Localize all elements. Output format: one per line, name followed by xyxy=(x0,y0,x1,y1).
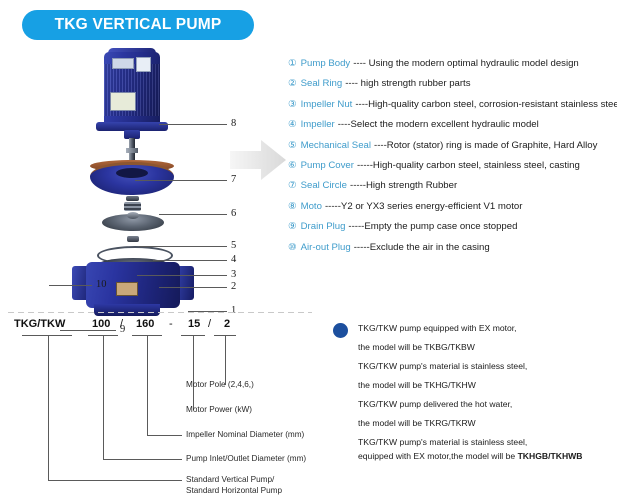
callout-number-6: 6 xyxy=(231,208,236,219)
legend-item-description: -----High-quality carbon steel, stainles… xyxy=(357,160,580,171)
model-token: 2 xyxy=(224,318,230,330)
legend-item: ⑩Air-out Plug-----Exclude the air in the… xyxy=(288,242,614,253)
shaft-step xyxy=(126,148,138,153)
callout-number-10: 10 xyxy=(96,279,107,290)
page-title: TKG VERTICAL PUMP xyxy=(55,16,222,34)
motor-terminal-box xyxy=(110,92,136,111)
model-part-label: Standard Vertical Pump/ xyxy=(186,475,274,484)
model-separator: / xyxy=(208,318,211,330)
model-bracket-vertical xyxy=(225,335,226,385)
note-line: the model will be TKRG/TKRW xyxy=(358,418,476,428)
legend-item-description: -----High strength Rubber xyxy=(350,180,457,191)
legend-item-number: ② xyxy=(288,78,297,89)
legend-item-number: ⑩ xyxy=(288,242,297,253)
callout-leader-line xyxy=(49,285,92,286)
model-bracket-vertical xyxy=(48,335,49,480)
note-line: equipped with EX motor,the model will be… xyxy=(358,451,582,461)
legend-item-number: ⑤ xyxy=(288,140,297,151)
callout-number-2: 2 xyxy=(231,281,236,292)
model-bracket-vertical xyxy=(147,335,148,435)
legend-item-name: Seal Ring xyxy=(301,78,343,89)
model-part-label: Pump Inlet/Outlet Diameter (mm) xyxy=(186,454,306,463)
legend-item: ⑤Mechanical Seal----Rotor (stator) ring … xyxy=(288,140,614,151)
exploded-pump-diagram: 87654321109 xyxy=(20,44,250,304)
legend-item-name: Seal Circle xyxy=(301,180,347,191)
model-separator: - xyxy=(169,318,173,330)
callout-leader-line xyxy=(139,246,227,247)
legend-item-description: ---- high strength rubber parts xyxy=(345,78,470,89)
impeller-nut xyxy=(127,236,139,242)
legend-item-name: Impeller Nut xyxy=(301,99,353,110)
page-title-banner: TKG VERTICAL PUMP xyxy=(22,10,254,40)
model-token: TKG/TKW xyxy=(14,318,65,330)
legend-item-name: Pump Body xyxy=(301,58,351,69)
legend-item-number: ⑥ xyxy=(288,160,297,171)
legend-item-description: -----Y2 or YX3 series energy-efficient V… xyxy=(325,201,522,212)
legend-item-number: ⑧ xyxy=(288,201,297,212)
mechanical-seal-lower xyxy=(124,202,141,211)
note-line: the model will be TKBG/TKBW xyxy=(358,342,475,352)
note-line: TKG/TKW pump equipped with EX motor, xyxy=(358,323,517,333)
impeller-hub xyxy=(127,212,139,219)
legend-item: ③Impeller Nut----High-quality carbon ste… xyxy=(288,99,614,110)
model-part-label: Motor Pole (2,4,6,) xyxy=(186,380,254,389)
note-model-code: TKHGB/TKHWB xyxy=(518,451,583,461)
callout-number-8: 8 xyxy=(231,118,236,129)
callout-number-5: 5 xyxy=(231,240,236,251)
note-line: the model will be TKHG/TKHW xyxy=(358,380,476,390)
model-bracket-horizontal xyxy=(103,459,182,460)
legend-item-name: Moto xyxy=(301,201,322,212)
legend-item-name: Impeller xyxy=(301,119,335,130)
callout-leader-line xyxy=(135,180,227,181)
legend-item-number: ④ xyxy=(288,119,297,130)
note-line: TKG/TKW pump delivered the hot water, xyxy=(358,399,512,409)
legend-item-number: ⑨ xyxy=(288,221,297,232)
product-spec-page: TKG VERTICAL PUMP 87654321109 xyxy=(0,0,617,500)
model-token: 100 xyxy=(92,318,110,330)
legend-item-description: ---- Using the modern optimal hydraulic … xyxy=(353,58,579,69)
legend-item-name: Air-out Plug xyxy=(301,242,351,253)
legend-item-description: -----Empty the pump case once stopped xyxy=(348,221,517,232)
model-separator: / xyxy=(120,318,123,330)
note-line: TKG/TKW pump's material is stainless ste… xyxy=(358,437,527,447)
legend-item: ⑦Seal Circle-----High strength Rubber xyxy=(288,180,614,191)
legend-item-number: ③ xyxy=(288,99,297,110)
pump-body-nameplate xyxy=(116,282,138,296)
model-bracket-vertical xyxy=(193,335,194,410)
legend-item-name: Drain Plug xyxy=(301,221,346,232)
model-part-label: Motor Power (kW) xyxy=(186,405,252,414)
note-line: TKG/TKW pump's material is stainless ste… xyxy=(358,361,527,371)
model-part-label: Standard Horizontal Pump xyxy=(186,486,282,495)
legend-item: ⑨Drain Plug-----Empty the pump case once… xyxy=(288,221,614,232)
callout-leader-line xyxy=(153,260,227,261)
legend-item: ①Pump Body---- Using the modern optimal … xyxy=(288,58,614,69)
model-token: 160 xyxy=(136,318,154,330)
legend-item-name: Pump Cover xyxy=(301,160,354,171)
legend-item-name: Mechanical Seal xyxy=(301,140,371,151)
legend-item-description: -----Exclude the air in the casing xyxy=(354,242,490,253)
pump-cover-bore xyxy=(116,168,148,178)
flow-arrow-icon xyxy=(230,138,286,182)
callout-leader-line xyxy=(159,214,227,215)
callout-number-1: 1 xyxy=(231,305,236,316)
model-bracket-horizontal xyxy=(147,435,182,436)
legend-item: ②Seal Ring---- high strength rubber part… xyxy=(288,78,614,89)
motor-label-tag xyxy=(136,57,151,72)
model-part-label: Impeller Nominal Diameter (mm) xyxy=(186,430,304,439)
callout-leader-line xyxy=(159,287,227,288)
parts-legend: ①Pump Body---- Using the modern optimal … xyxy=(288,58,614,262)
legend-item-description: ----Select the modern excellent hydrauli… xyxy=(338,119,539,130)
legend-item-number: ① xyxy=(288,58,297,69)
legend-item: ⑧Moto-----Y2 or YX3 series energy-effici… xyxy=(288,201,614,212)
pump-cover xyxy=(90,162,174,195)
motor-nameplate xyxy=(112,58,134,69)
legend-item: ④Impeller----Select the modern excellent… xyxy=(288,119,614,130)
legend-item: ⑥Pump Cover-----High-quality carbon stee… xyxy=(288,160,614,171)
section-divider xyxy=(8,312,312,313)
legend-item-description: ----Rotor (stator) ring is made of Graph… xyxy=(374,140,597,151)
callout-leader-line xyxy=(137,275,227,276)
legend-item-description: ----High-quality carbon steel, corrosion… xyxy=(355,99,617,110)
callout-number-3: 3 xyxy=(231,269,236,280)
model-bracket-horizontal xyxy=(48,480,182,481)
model-token-underline xyxy=(22,335,72,336)
callout-leader-line xyxy=(159,124,227,125)
model-code-breakdown: TKG/TKW100160152/-/Motor Pole (2,4,6,)Mo… xyxy=(8,318,318,493)
model-token: 15 xyxy=(188,318,200,330)
model-bracket-vertical xyxy=(103,335,104,459)
bullet-dot-icon xyxy=(333,323,348,338)
legend-item-number: ⑦ xyxy=(288,180,297,191)
callout-number-4: 4 xyxy=(231,254,236,265)
mechanical-seal-upper xyxy=(126,196,139,201)
